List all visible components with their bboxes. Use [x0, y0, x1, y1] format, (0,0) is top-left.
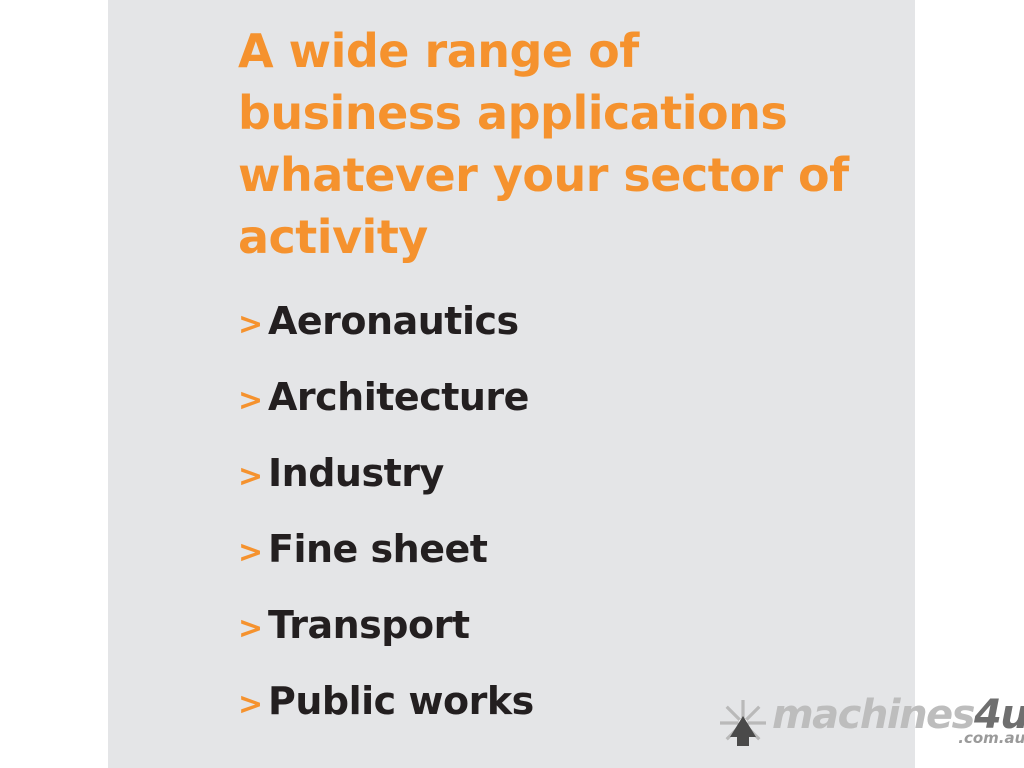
chevron-right-icon: >: [238, 538, 268, 568]
chevron-right-icon: >: [238, 386, 268, 416]
watermark-domain: .com.au: [958, 730, 1024, 746]
watermark-text: machines4u .com.au: [772, 694, 1024, 750]
page-title-line-4: activity: [238, 206, 838, 268]
sector-list-item-label: Public works: [268, 682, 534, 720]
page-title-line-3: whatever your sector of: [238, 144, 838, 206]
watermark: machines4u .com.au: [716, 694, 1016, 758]
starburst-arrow-icon: [716, 696, 770, 750]
sector-list: > Aeronautics > Architecture > Industry …: [238, 302, 878, 758]
page-title: A wide range of business applications wh…: [238, 20, 838, 268]
page-title-line-2: business applications: [238, 82, 838, 144]
page-title-line-1: A wide range of: [238, 20, 838, 82]
sector-list-item-label: Fine sheet: [268, 530, 487, 568]
sector-list-item-label: Transport: [268, 606, 470, 644]
list-item: > Transport: [238, 606, 878, 682]
list-item: > Aeronautics: [238, 302, 878, 378]
content-column: A wide range of business applications wh…: [238, 0, 898, 768]
list-item: > Fine sheet: [238, 530, 878, 606]
chevron-right-icon: >: [238, 462, 268, 492]
sector-list-item-label: Aeronautics: [268, 302, 519, 340]
chevron-right-icon: >: [238, 614, 268, 644]
watermark-brand-primary: machines: [772, 692, 974, 738]
chevron-right-icon: >: [238, 310, 268, 340]
list-item: > Industry: [238, 454, 878, 530]
sector-list-item-label: Architecture: [268, 378, 529, 416]
list-item: > Architecture: [238, 378, 878, 454]
sector-list-item-label: Industry: [268, 454, 444, 492]
chevron-right-icon: >: [238, 690, 268, 720]
slide-canvas: A wide range of business applications wh…: [0, 0, 1024, 768]
